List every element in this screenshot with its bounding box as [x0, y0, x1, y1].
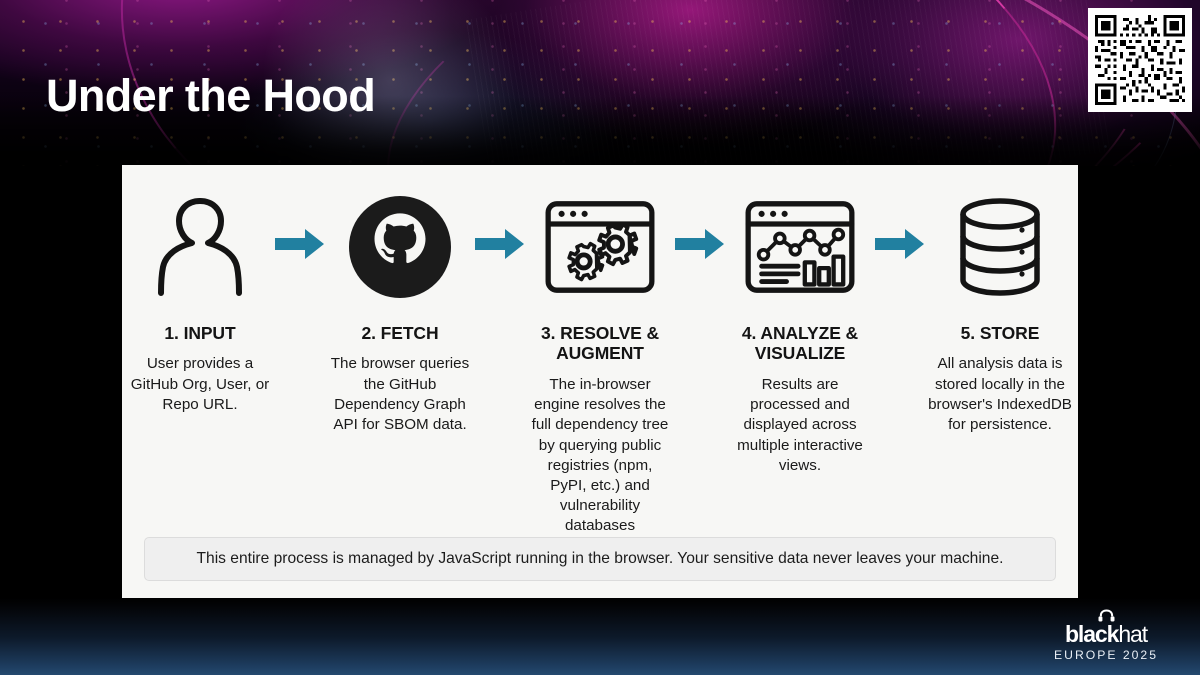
right-arrow-icon	[872, 165, 928, 261]
brand-hat: hat	[1118, 621, 1147, 647]
step-description: The in-browser engine resolves the full …	[528, 375, 672, 557]
process-step: 1. INPUT User provides a GitHub Org, Use…	[128, 165, 272, 415]
step-title: 3. RESOLVE & AUGMENT	[528, 323, 672, 364]
slide: Under the Hood	[0, 0, 1200, 675]
process-step: 4. ANALYZE & VISUALIZE Results are proce…	[728, 165, 872, 476]
step-title: 2. FETCH	[362, 323, 439, 343]
step-title: 1. INPUT	[164, 323, 235, 343]
person-icon	[154, 187, 246, 307]
content-panel: 1. INPUT User provides a GitHub Org, Use…	[122, 165, 1078, 598]
process-step: 5. STORE All analysis data is stored loc…	[928, 165, 1072, 435]
step-description: Results are processed and displayed acro…	[728, 375, 872, 476]
black-hat-logo: blackhat EUROPE 2025	[1036, 609, 1176, 661]
page-title: Under the Hood	[46, 73, 375, 118]
process-step: 3. RESOLVE & AUGMENT The in-browser engi…	[528, 165, 672, 557]
browser-chart-icon	[744, 187, 856, 307]
browser-gears-icon	[544, 187, 656, 307]
right-arrow-icon	[272, 165, 328, 261]
black-hat-wordmark: blackhat	[1036, 623, 1176, 646]
step-title: 4. ANALYZE & VISUALIZE	[728, 323, 872, 364]
brand-black: black	[1065, 621, 1118, 647]
event-edition: EUROPE 2025	[1036, 649, 1176, 661]
database-icon	[954, 187, 1046, 307]
process-step: 2. FETCH The browser queries the GitHub …	[328, 165, 472, 435]
right-arrow-icon	[672, 165, 728, 261]
process-caption: This entire process is managed by JavaSc…	[144, 537, 1056, 581]
right-arrow-icon	[472, 165, 528, 261]
github-octocat-icon	[349, 187, 451, 307]
process-flow: 1. INPUT User provides a GitHub Org, Use…	[122, 165, 1078, 557]
slide-footer: blackhat EUROPE 2025	[0, 598, 1200, 675]
qr-code-icon[interactable]	[1088, 8, 1192, 112]
step-description: User provides a GitHub Org, User, or Rep…	[128, 354, 272, 415]
step-title: 5. STORE	[961, 323, 1040, 343]
step-description: The browser queries the GitHub Dependenc…	[328, 354, 472, 435]
step-description: All analysis data is stored locally in t…	[928, 354, 1072, 435]
